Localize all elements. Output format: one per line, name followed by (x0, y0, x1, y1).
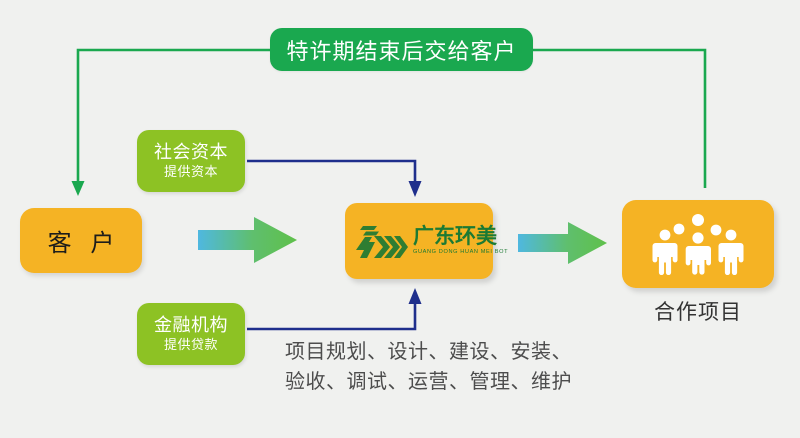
social-capital-tag[interactable]: 社会资本 提供资本 (137, 130, 245, 192)
cooperation-project-label: 合作项目 (622, 296, 774, 326)
social-capital-title: 社会资本 (154, 141, 228, 163)
financial-institution-subtitle: 提供贷款 (164, 336, 218, 354)
diagram-canvas: 特许期结束后交给客户 客 户 社会资本 提供资本 金融机构 提供贷款 广东环美 (0, 0, 800, 438)
customer-box[interactable]: 客 户 (20, 208, 142, 273)
customer-label: 客 户 (42, 223, 121, 258)
service-scope-text: 项目规划、设计、建设、安装、 验收、调试、运营、管理、维护 (285, 337, 585, 397)
green-chevron-logo-mark (353, 220, 409, 262)
cooperation-project-card[interactable] (622, 200, 774, 288)
company-logo-card[interactable]: 广东环美 GUANG DONG HUAN MEI BOT (345, 203, 493, 279)
connector-social-capital-to-company (247, 161, 422, 197)
social-capital-subtitle: 提供资本 (164, 163, 218, 181)
connector-financial-institution-to-company (247, 288, 422, 329)
logo-english-name: GUANG DONG HUAN MEI BOT (413, 248, 508, 257)
financial-institution-title: 金融机构 (154, 314, 228, 336)
dot (692, 214, 704, 226)
gradient-right-arrow-icon (196, 212, 300, 268)
financial-institution-tag[interactable]: 金融机构 提供贷款 (137, 303, 245, 365)
logo-wordmark: 广东环美 GUANG DONG HUAN MEI BOT (413, 225, 506, 257)
three-people-icon (639, 213, 757, 275)
service-line-2: 验收、调试、运营、管理、维护 (285, 367, 585, 397)
banner-label: 特许期结束后交给客户 (286, 34, 516, 66)
logo-chinese-name: 广东环美 (413, 225, 506, 248)
dot (711, 225, 722, 236)
service-line-1: 项目规划、设计、建设、安装、 (285, 337, 585, 367)
connector-project-to-banner (533, 50, 705, 188)
dot (674, 224, 685, 235)
franchise-handover-banner: 特许期结束后交给客户 (270, 28, 533, 71)
gradient-right-arrow-icon (516, 219, 610, 267)
